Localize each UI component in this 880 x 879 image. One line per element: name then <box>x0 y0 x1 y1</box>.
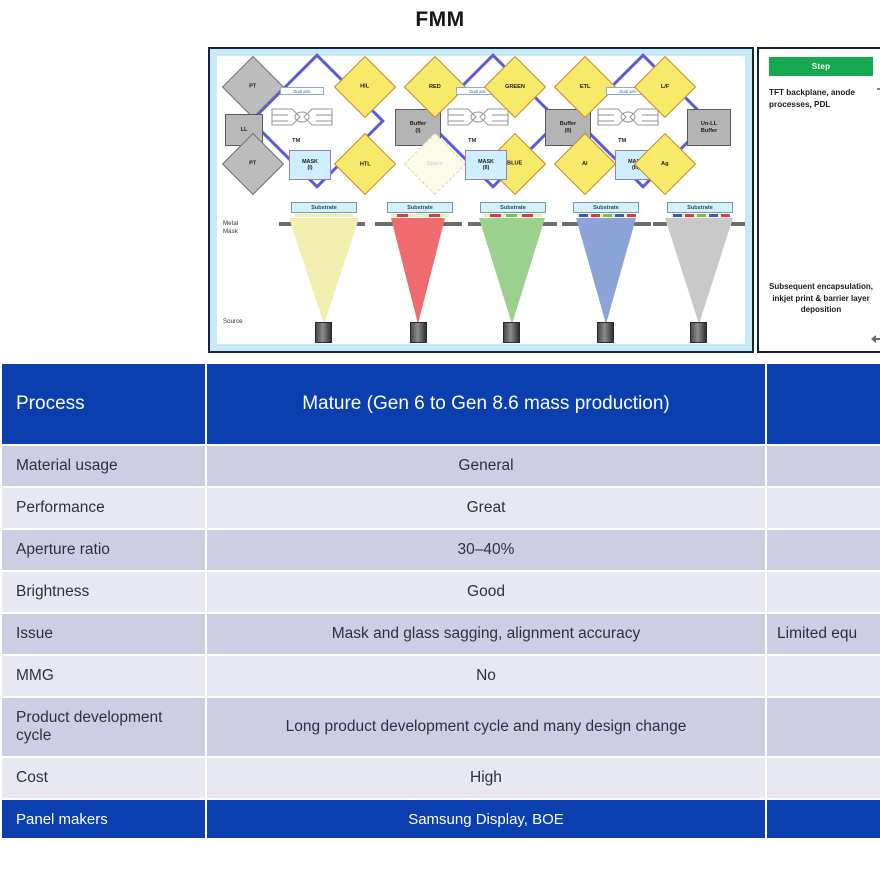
mask-box-1: MASK (I) <box>289 150 331 180</box>
green-subpixel-3 <box>506 214 517 217</box>
table-row-material-usage: Material usage General <box>2 446 880 486</box>
row-value-mmg: No <box>207 656 765 696</box>
row-label-cost: Cost <box>2 758 205 798</box>
row-label-mmg: MMG <box>2 656 205 696</box>
red-subpixel-4 <box>591 214 600 217</box>
step-header: Step <box>769 57 873 76</box>
row-extra-process <box>767 364 880 444</box>
process-diagram-panel: PT LL PT Dual arm TM <box>208 47 754 353</box>
row-label-issue: Issue <box>2 614 205 654</box>
step-text-top: TFT backplane, anode processes, PDL <box>769 87 880 111</box>
red-subpixel-5 <box>685 214 694 217</box>
table-row-performance: Performance Great <box>2 488 880 528</box>
blue-subpixel-4b <box>615 214 624 217</box>
row-value-brightness: Good <box>207 572 765 612</box>
row-value-issue: Mask and glass sagging, alignment accura… <box>207 614 765 654</box>
source-row-label: Source <box>223 318 243 326</box>
row-label-aperture-ratio: Aperture ratio <box>2 530 205 570</box>
row-value-cost: High <box>207 758 765 798</box>
evaporation-source-3 <box>503 322 520 343</box>
blue-subpixel-4a <box>579 214 588 217</box>
tm-label-3: TM <box>618 138 626 144</box>
red-subpixel-5b <box>721 214 730 217</box>
red-subpixel-3b <box>522 214 533 217</box>
row-label-product-development-cycle: Product development cycle <box>2 698 205 756</box>
green-subpixel-4 <box>603 214 612 217</box>
row-label-brightness: Brightness <box>2 572 205 612</box>
deposition-cone-5 <box>665 218 733 324</box>
page-title: FMM <box>0 8 880 32</box>
figure-row: PT LL PT Dual arm TM <box>0 47 880 353</box>
row-label-performance: Performance <box>2 488 205 528</box>
tm-label-2: TM <box>468 138 476 144</box>
deposition-cone-2 <box>391 218 445 324</box>
cluster-tool-diagram: PT LL PT Dual arm TM <box>217 56 745 194</box>
spec-table-body: Process Mature (Gen 6 to Gen 8.6 mass pr… <box>2 364 880 838</box>
step-panel: Step TFT backplane, anode processes, PDL… <box>757 47 880 353</box>
red-subpixel-2b <box>429 214 440 217</box>
row-extra-cost <box>767 758 880 798</box>
step-text-bottom: Subsequent encapsulation, inkjet print &… <box>767 281 875 316</box>
row-extra-issue: Limited equ <box>767 614 880 654</box>
red-subpixel-2a <box>397 214 408 217</box>
evaporation-source-4 <box>597 322 614 343</box>
row-value-performance: Great <box>207 488 765 528</box>
unload-buffer: Un-LL Buffer <box>687 109 731 146</box>
red-subpixel-3 <box>490 214 501 217</box>
red-subpixel-4b <box>627 214 636 217</box>
evaporation-source-2 <box>410 322 427 343</box>
substrate-5: Substrate <box>667 202 733 213</box>
evaporation-diagram: Metal Mask Source Substrate Substrate <box>217 194 745 348</box>
step-arrow-icon <box>875 338 880 340</box>
table-row-cost: Cost High <box>2 758 880 798</box>
row-extra-panel-makers <box>767 800 880 838</box>
row-value-material-usage: General <box>207 446 765 486</box>
row-extra-material-usage <box>767 446 880 486</box>
row-extra-mmg <box>767 656 880 696</box>
metal-mask-row-label: Metal Mask <box>223 220 238 236</box>
table-row-process: Process Mature (Gen 6 to Gen 8.6 mass pr… <box>2 364 880 444</box>
evaporation-source-1 <box>315 322 332 343</box>
table-row-issue: Issue Mask and glass sagging, alignment … <box>2 614 880 654</box>
row-extra-brightness <box>767 572 880 612</box>
mask-box-2: MASK (II) <box>465 150 507 180</box>
row-value-panel-makers: Samsung Display, BOE <box>207 800 765 838</box>
row-value-process: Mature (Gen 6 to Gen 8.6 mass production… <box>207 364 765 444</box>
row-value-product-development-cycle: Long product development cycle and many … <box>207 698 765 756</box>
tm-label-1: TM <box>292 138 300 144</box>
table-row-aperture-ratio: Aperture ratio 30–40% <box>2 530 880 570</box>
dual-arm-label-1: Dual arm <box>280 87 324 95</box>
row-extra-performance <box>767 488 880 528</box>
blue-subpixel-5a <box>673 214 682 217</box>
row-label-process: Process <box>2 364 205 444</box>
substrate-2: Substrate <box>387 202 453 213</box>
substrate-4: Substrate <box>573 202 639 213</box>
spec-table: Process Mature (Gen 6 to Gen 8.6 mass pr… <box>0 362 880 840</box>
row-extra-aperture-ratio <box>767 530 880 570</box>
deposition-cone-4 <box>576 218 636 324</box>
table-row-product-development-cycle: Product development cycle Long product d… <box>2 698 880 756</box>
blue-subpixel-5b <box>709 214 718 217</box>
deposition-cone-3 <box>479 218 545 324</box>
green-subpixel-5 <box>697 214 706 217</box>
row-label-panel-makers: Panel makers <box>2 800 205 838</box>
robot-arm-icon-1 <box>269 100 335 134</box>
evaporation-source-5 <box>690 322 707 343</box>
substrate-1: Substrate <box>291 202 357 213</box>
substrate-3: Substrate <box>480 202 546 213</box>
row-extra-product-development-cycle <box>767 698 880 756</box>
emissive-layer-1 <box>295 214 353 217</box>
mask-bar-5-right <box>731 222 745 226</box>
deposition-cone-1 <box>289 218 359 324</box>
table-row-brightness: Brightness Good <box>2 572 880 612</box>
table-row-mmg: MMG No <box>2 656 880 696</box>
process-diagram-canvas: PT LL PT Dual arm TM <box>217 56 745 344</box>
row-label-material-usage: Material usage <box>2 446 205 486</box>
table-row-panel-makers: Panel makers Samsung Display, BOE <box>2 800 880 838</box>
row-value-aperture-ratio: 30–40% <box>207 530 765 570</box>
